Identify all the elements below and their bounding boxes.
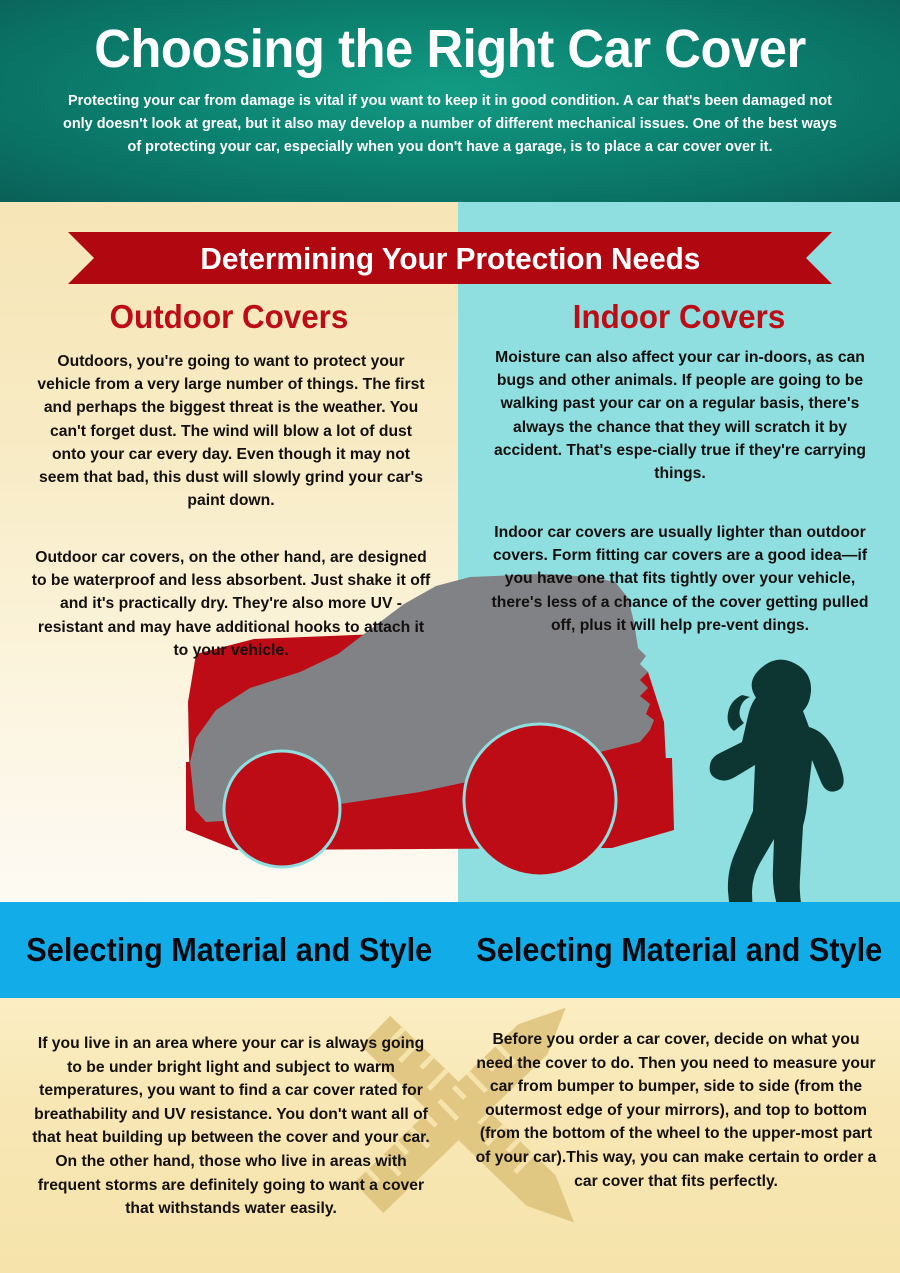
outdoor-covers-heading: Outdoor Covers	[11, 300, 446, 334]
blue-band-left-cell: Selecting Material and Style	[0, 902, 458, 998]
ribbon-label: Determining Your Protection Needs	[200, 243, 700, 274]
page-title: Choosing the Right Car Cover	[51, 10, 848, 78]
indoor-covers-heading: Indoor Covers	[469, 300, 889, 334]
selecting-material-right-title: Selecting Material and Style	[476, 930, 882, 970]
outdoor-paragraph-2: Outdoor car covers, on the other hand, a…	[31, 546, 431, 662]
selecting-material-left-title: Selecting Material and Style	[26, 930, 432, 970]
header-subtitle: Protecting your car from damage is vital…	[47, 89, 853, 158]
selecting-material-band: Selecting Material and Style Selecting M…	[0, 902, 900, 998]
indoor-paragraph-2: Indoor car covers are usually lighter th…	[483, 521, 877, 637]
ribbon-banner: Determining Your Protection Needs	[68, 232, 832, 284]
indoor-paragraph-1: Moisture can also affect your car in-doo…	[483, 346, 877, 485]
header-banner: Choosing the Right Car Cover Protecting …	[0, 0, 900, 202]
infographic-page: Choosing the Right Car Cover Protecting …	[0, 0, 900, 1273]
footer-paragraph-left: If you live in an area where your car is…	[31, 1032, 431, 1221]
footer-paragraph-right: Before you order a car cover, decide on …	[475, 1028, 877, 1193]
outdoor-paragraph-1: Outdoors, you're going to want to protec…	[31, 350, 431, 512]
blue-band-right-cell: Selecting Material and Style	[458, 902, 900, 998]
